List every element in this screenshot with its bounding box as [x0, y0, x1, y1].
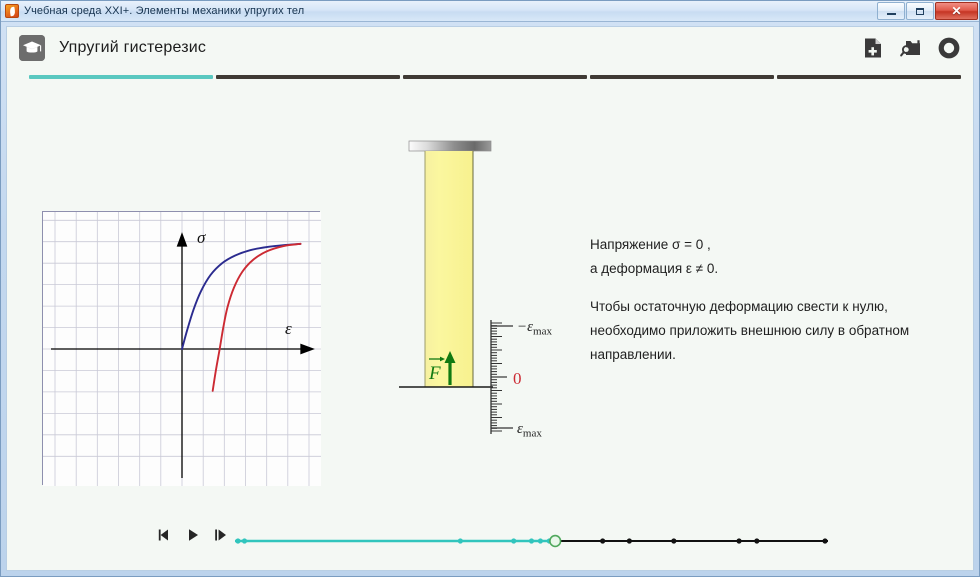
- ruler-label-bottom: εmax: [517, 421, 542, 437]
- new-document-icon[interactable]: [861, 36, 885, 60]
- progress-segment-2[interactable]: [216, 75, 400, 79]
- explanation-text: Напряжение σ = 0 , а деформация ε ≠ 0. Ч…: [590, 233, 960, 367]
- title-bar: Учебная среда XXI+. Элементы механики уп…: [1, 1, 979, 22]
- progress-segment-4[interactable]: [590, 75, 774, 79]
- svg-text:F: F: [428, 363, 441, 384]
- play-button[interactable]: [185, 527, 201, 543]
- elastic-bar-apparatus: F −εmax 0 εmax: [395, 137, 575, 437]
- window-title: Учебная среда XXI+. Элементы механики уп…: [24, 5, 304, 17]
- maximize-button[interactable]: [906, 2, 934, 20]
- progress-segment-3[interactable]: [403, 75, 587, 79]
- paragraph-gap: [590, 281, 960, 295]
- graduation-cap-icon: [19, 35, 45, 61]
- step-forward-button[interactable]: [213, 527, 229, 543]
- client-area: Упругий гистерезис: [6, 26, 974, 571]
- minimize-icon: [887, 13, 896, 15]
- transport-controls: [157, 527, 229, 543]
- explanation-line-5: направлении.: [590, 343, 960, 367]
- chart-xlabel-epsilon: ε: [285, 319, 292, 338]
- lesson-stage: σ ε: [7, 85, 973, 510]
- app-logo-icon: [5, 4, 19, 18]
- minimize-button[interactable]: [877, 2, 905, 20]
- close-icon: ✕: [951, 5, 961, 17]
- progress-segments: [29, 75, 961, 79]
- timeline-playhead: [550, 536, 561, 547]
- timeline-scrubber[interactable]: [235, 534, 828, 548]
- strain-ruler: [491, 320, 513, 434]
- pie-chart-icon[interactable]: [937, 36, 961, 60]
- header-toolbar: [861, 36, 961, 60]
- application-window: Учебная среда XXI+. Элементы механики уп…: [0, 0, 980, 577]
- ceiling-plate: [409, 141, 491, 151]
- chart-ylabel-sigma: σ: [197, 228, 206, 247]
- ruler-label-zero: 0: [513, 369, 522, 388]
- window-controls: ✕: [877, 2, 978, 20]
- elastic-bar: [425, 151, 473, 387]
- page-header: Упругий гистерезис: [7, 27, 973, 69]
- page-title: Упругий гистерезис: [59, 39, 206, 57]
- ruler-label-top: −εmax: [517, 319, 552, 338]
- progress-segment-1[interactable]: [29, 75, 213, 79]
- maximize-icon: [916, 8, 924, 15]
- open-folder-search-icon[interactable]: [899, 36, 923, 60]
- progress-segment-5[interactable]: [777, 75, 961, 79]
- step-back-button[interactable]: [157, 527, 173, 543]
- close-button[interactable]: ✕: [935, 2, 978, 20]
- explanation-line-2: а деформация ε ≠ 0.: [590, 257, 960, 281]
- explanation-line-1: Напряжение σ = 0 ,: [590, 233, 960, 257]
- explanation-line-4: необходимо приложить внешнюю силу в обра…: [590, 319, 960, 343]
- stress-strain-chart: σ ε: [42, 211, 320, 485]
- explanation-line-3: Чтобы остаточную деформацию свести к нул…: [590, 295, 960, 319]
- playback-bar: [7, 510, 973, 570]
